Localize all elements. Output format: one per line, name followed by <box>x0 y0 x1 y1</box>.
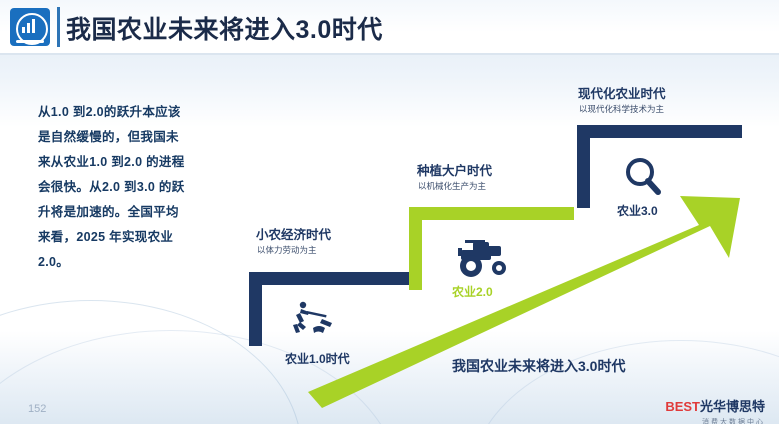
arrow-label: 我国农业未来将进入3.0时代 <box>452 356 625 376</box>
intro-paragraph: 从1.0 到2.0的跃升本应该是自然缓慢的，但我国未来从农业1.0 到2.0 的… <box>38 100 188 275</box>
page-title: 我国农业未来将进入3.0时代 <box>66 10 383 46</box>
step-3-subtitle: 以现代化科学技术为主 <box>579 103 664 115</box>
step-3-title: 现代化农业时代 <box>578 83 666 102</box>
brand-prefix: BEST <box>665 399 700 414</box>
brand-name: 光华博思特 <box>700 399 765 414</box>
title-divider <box>57 7 60 47</box>
header-rule <box>0 53 779 55</box>
brand-subtitle: 消费大数据中心 <box>665 417 765 424</box>
company-emblem-icon <box>10 8 50 46</box>
slide-canvas: 我国农业未来将进入3.0时代 从1.0 到2.0的跃升本应该是自然缓慢的，但我国… <box>0 0 779 424</box>
page-number: 152 <box>28 403 46 415</box>
brand-logo: BEST光华博思特 消费大数据中心 <box>665 396 765 424</box>
slide-header: 我国农业未来将进入3.0时代 <box>0 0 779 54</box>
step-3-tread <box>577 125 742 138</box>
